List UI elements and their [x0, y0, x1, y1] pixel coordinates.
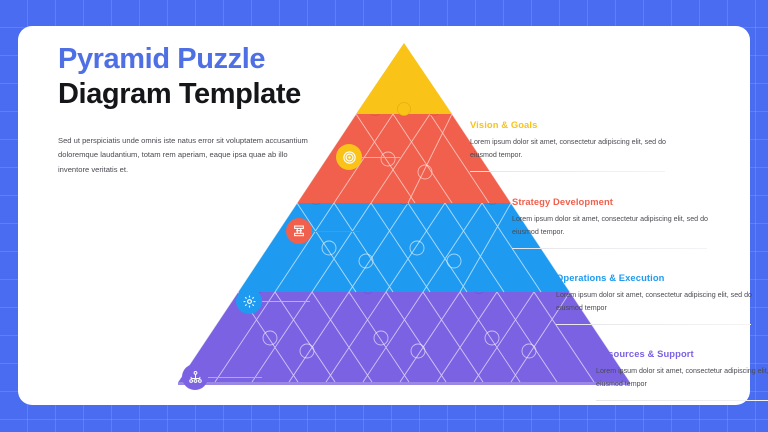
level-title-vision: Vision & Goals [470, 119, 688, 130]
tier-shadow-purple [178, 382, 630, 385]
level-divider-strategy [512, 248, 707, 249]
slide-card: Pyramid Puzzle Diagram Template Sed ut p… [18, 26, 750, 405]
level-block-resources: Resources & Support Lorem ipsum dolor si… [596, 348, 768, 401]
level-block-vision: Vision & Goals Lorem ipsum dolor sit ame… [470, 119, 688, 172]
level-desc-strategy: Lorem ipsum dolor sit amet, consectetur … [512, 213, 730, 239]
level-divider-vision [470, 171, 665, 172]
level-desc-operations: Lorem ipsum dolor sit amet, consectetur … [556, 289, 768, 315]
level-title-strategy: Strategy Development [512, 196, 730, 207]
connector-line-operations [262, 301, 310, 302]
podium-icon[interactable] [286, 218, 312, 244]
level-block-strategy: Strategy Development Lorem ipsum dolor s… [512, 196, 730, 249]
gear-icon[interactable] [236, 288, 262, 314]
level-title-resources: Resources & Support [596, 348, 768, 359]
level-desc-vision: Lorem ipsum dolor sit amet, consectetur … [470, 136, 688, 162]
level-block-operations: Operations & Execution Lorem ipsum dolor… [556, 272, 768, 325]
level-divider-operations [556, 324, 751, 325]
tier-knobs-gold [398, 103, 411, 116]
target-icon[interactable] [336, 144, 362, 170]
slide-canvas: Pyramid Puzzle Diagram Template Sed ut p… [0, 0, 768, 432]
pyramid-tier-vision[interactable] [356, 43, 452, 116]
connector-line-resources [208, 377, 262, 378]
connector-line-strategy [312, 231, 360, 232]
level-divider-resources [596, 400, 768, 401]
team-icon[interactable] [182, 364, 208, 390]
level-title-operations: Operations & Execution [556, 272, 768, 283]
level-desc-resources: Lorem ipsum dolor sit amet, consectetur … [596, 365, 768, 391]
connector-line-vision [362, 157, 400, 158]
